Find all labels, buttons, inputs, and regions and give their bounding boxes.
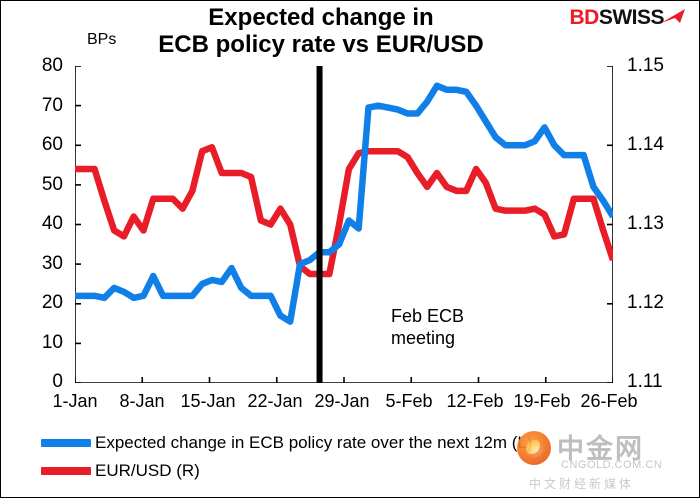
y-left-tick-60: 60 <box>17 134 63 156</box>
series-line-eurusd <box>75 147 613 274</box>
legend-label-eurusd: EUR/USD (R) <box>95 461 200 481</box>
x-tick-15-jan: 15-Jan <box>175 391 241 412</box>
y-left-tick-50: 50 <box>17 174 63 196</box>
y-left-tick-10: 10 <box>17 332 63 354</box>
y-right-tick-112: 1.12 <box>627 292 681 314</box>
right-axis-ticks <box>607 66 613 383</box>
logo-text-bd: BD <box>569 6 598 29</box>
y-left-tick-30: 30 <box>17 253 63 275</box>
y-right-tick-111: 1.11 <box>627 371 681 393</box>
chart-canvas <box>75 66 613 383</box>
legend-swatch-blue <box>41 439 91 447</box>
y-left-tick-20: 20 <box>17 292 63 314</box>
marker-annotation: Feb ECB meeting <box>391 306 464 350</box>
x-tick-12-feb: 12-Feb <box>442 391 508 412</box>
x-tick-5-feb: 5-Feb <box>376 391 442 412</box>
bdswiss-logo: BDSWISS <box>569 7 687 28</box>
x-tick-22-jan: 22-Jan <box>242 391 308 412</box>
chart-title-line2: ECB policy rate vs EUR/USD <box>121 32 521 59</box>
page-title: Expected change in ECB policy rate vs EU… <box>121 5 521 59</box>
y-left-tick-70: 70 <box>17 95 63 117</box>
x-tick-19-feb: 19-Feb <box>509 391 575 412</box>
x-tick-26-feb: 26-Feb <box>576 391 642 412</box>
y-left-tick-40: 40 <box>17 213 63 235</box>
logo-text-swiss: SWISS <box>599 6 664 29</box>
left-axis-ticks <box>75 66 81 383</box>
left-axis-unit-label: BPs <box>87 31 116 49</box>
annotation-line1: Feb ECB <box>391 306 464 328</box>
cngold-watermark: 中金网 CNGOLD.COM.CN 中文财经新媒体 <box>505 429 695 495</box>
chart-frame: BDSWISS Expected change in ECB policy ra… <box>0 0 700 498</box>
annotation-line2: meeting <box>391 328 464 350</box>
y-right-tick-114: 1.14 <box>627 134 681 156</box>
legend-item-eurusd[interactable]: EUR/USD (R) <box>41 457 533 485</box>
y-left-tick-80: 80 <box>17 55 63 77</box>
logo-arrow-icon <box>661 9 687 26</box>
y-right-tick-115: 1.15 <box>627 55 681 77</box>
legend-swatch-red <box>41 467 91 475</box>
chart-legend: Expected change in ECB policy rate over … <box>41 429 533 485</box>
x-tick-29-jan: 29-Jan <box>309 391 375 412</box>
cngold-logo-icon <box>517 431 551 465</box>
chart-title-line1: Expected change in <box>208 4 433 31</box>
x-tick-1-jan: 1-Jan <box>42 391 108 412</box>
legend-label-ecb-rate: Expected change in ECB policy rate over … <box>95 433 533 453</box>
plot-area <box>75 66 613 383</box>
legend-item-ecb-rate[interactable]: Expected change in ECB policy rate over … <box>41 429 533 457</box>
watermark-domain: CNGOLD.COM.CN <box>561 459 662 471</box>
y-right-tick-113: 1.13 <box>627 213 681 235</box>
x-tick-8-jan: 8-Jan <box>109 391 175 412</box>
x-axis-ticks <box>75 377 613 383</box>
y-left-tick-0: 0 <box>17 371 63 393</box>
watermark-tagline: 中文财经新媒体 <box>529 475 634 492</box>
